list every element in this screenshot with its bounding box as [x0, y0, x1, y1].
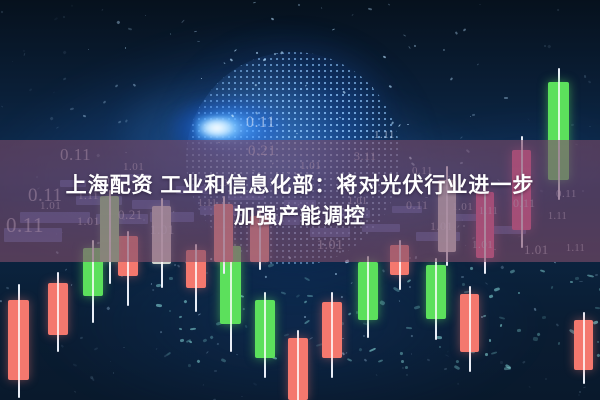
headline-line-1: 上海配资 工业和信息化部：将对光伏行业进一步: [66, 172, 535, 200]
banner-image: 0.110.110.111.011.011.011.111.010.211.01…: [0, 0, 600, 400]
floating-number: 0.11: [246, 114, 275, 132]
headline-band: 上海配资 工业和信息化部：将对光伏行业进一步 加强产能调控: [0, 140, 600, 262]
headline-line-2: 加强产能调控: [234, 203, 366, 231]
